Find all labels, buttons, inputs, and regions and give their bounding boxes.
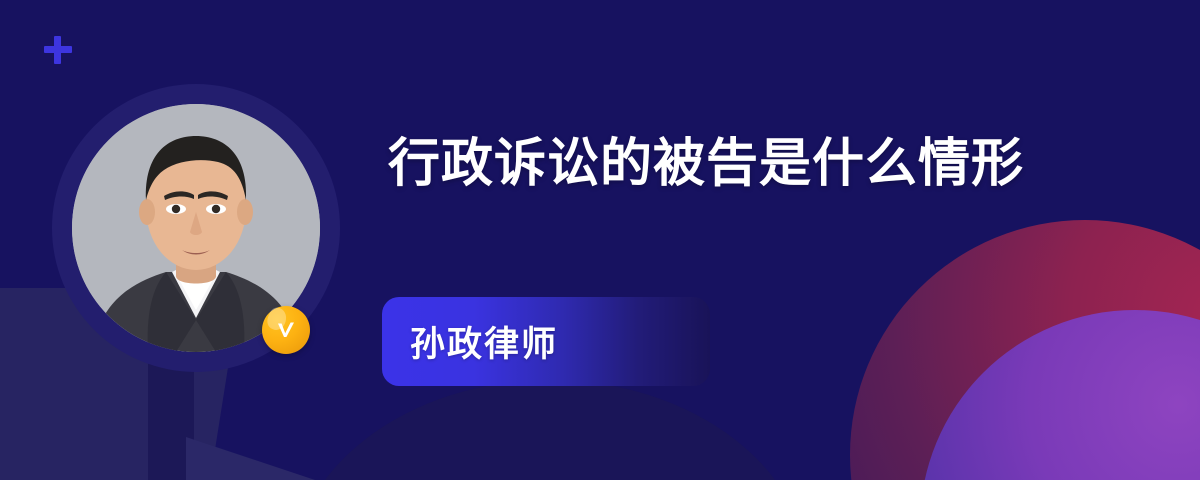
decor-blob-indigo	[290, 380, 810, 480]
decor-blob-violet	[920, 310, 1200, 480]
avatar[interactable]	[52, 84, 340, 372]
lawyer-name-chip[interactable]: 孙政律师	[382, 297, 710, 386]
verified-check-icon	[262, 306, 310, 354]
video-cover-card: 行政诉讼的被告是什么情形 孙政律师	[0, 0, 1200, 480]
decor-blob-crimson	[850, 220, 1200, 480]
page-title: 行政诉讼的被告是什么情形	[388, 126, 1088, 202]
decor-triangle	[186, 437, 546, 480]
plus-icon	[44, 36, 72, 64]
lawyer-name-label: 孙政律师	[382, 316, 558, 367]
